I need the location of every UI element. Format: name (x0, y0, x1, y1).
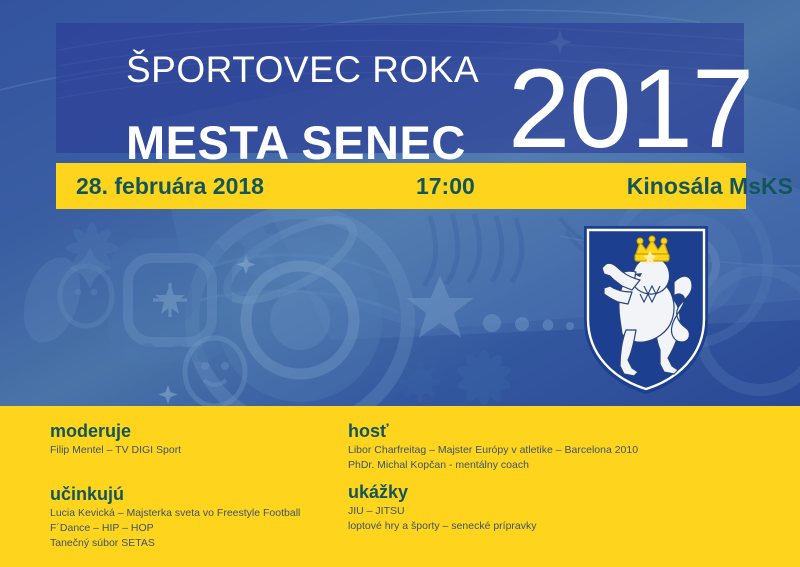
ukazky-line-2: loptové hry a športy – senecké prípravky (348, 519, 537, 534)
ucinkuju-line-1: Lucia Kevická – Majsterka sveta vo Frees… (50, 506, 300, 521)
footer-block-ukazky: ukážky JIU – JITSU loptové hry a športy … (348, 483, 537, 534)
poster-footer: moderuje Filip Mentel – TV DIGI Sport uč… (0, 406, 800, 567)
title-panel: ŠPORTOVEC ROKA MESTA SENEC 2017 (56, 23, 744, 153)
page-title-line2: MESTA SENEC (126, 119, 466, 166)
host-line-2: PhDr. Michal Kopčan - mentálny coach (348, 458, 638, 473)
ukazky-heading: ukážky (348, 483, 537, 502)
footer-block-moderuje: moderuje Filip Mentel – TV DIGI Sport (50, 422, 181, 458)
moderuje-heading: moderuje (50, 422, 181, 441)
event-time: 17:00 (416, 173, 475, 200)
ukazky-line-1: JIU – JITSU (348, 504, 537, 519)
footer-block-ucinkuju: učinkujú Lucia Kevická – Majsterka sveta… (50, 485, 300, 551)
footer-block-host: hosť Libor Charfreitag – Majster Európy … (348, 422, 638, 473)
event-poster: ŠPORTOVEC ROKA MESTA SENEC 2017 28. febr… (0, 0, 800, 567)
page-title-line1: ŠPORTOVEC ROKA (126, 51, 479, 88)
ucinkuju-heading: učinkujú (50, 485, 300, 504)
senec-coat-of-arms-icon (582, 224, 710, 396)
host-heading: hosť (348, 422, 638, 441)
ucinkuju-line-3: Tanečný súbor SETAS (50, 536, 300, 551)
ucinkuju-line-2: F´Dance – HIP – HOP (50, 521, 300, 536)
event-venue: Kinosála MsKS (627, 173, 793, 200)
crown-icon (635, 236, 669, 264)
event-date: 28. februára 2018 (76, 173, 264, 200)
poster-blue-background: ŠPORTOVEC ROKA MESTA SENEC 2017 28. febr… (0, 0, 800, 406)
event-info-bar: 28. februára 2018 17:00 Kinosála MsKS (56, 163, 746, 209)
moderuje-line-1: Filip Mentel – TV DIGI Sport (50, 443, 181, 458)
host-line-1: Libor Charfreitag – Majster Európy v atl… (348, 443, 638, 458)
page-title-year: 2017 (508, 53, 753, 165)
